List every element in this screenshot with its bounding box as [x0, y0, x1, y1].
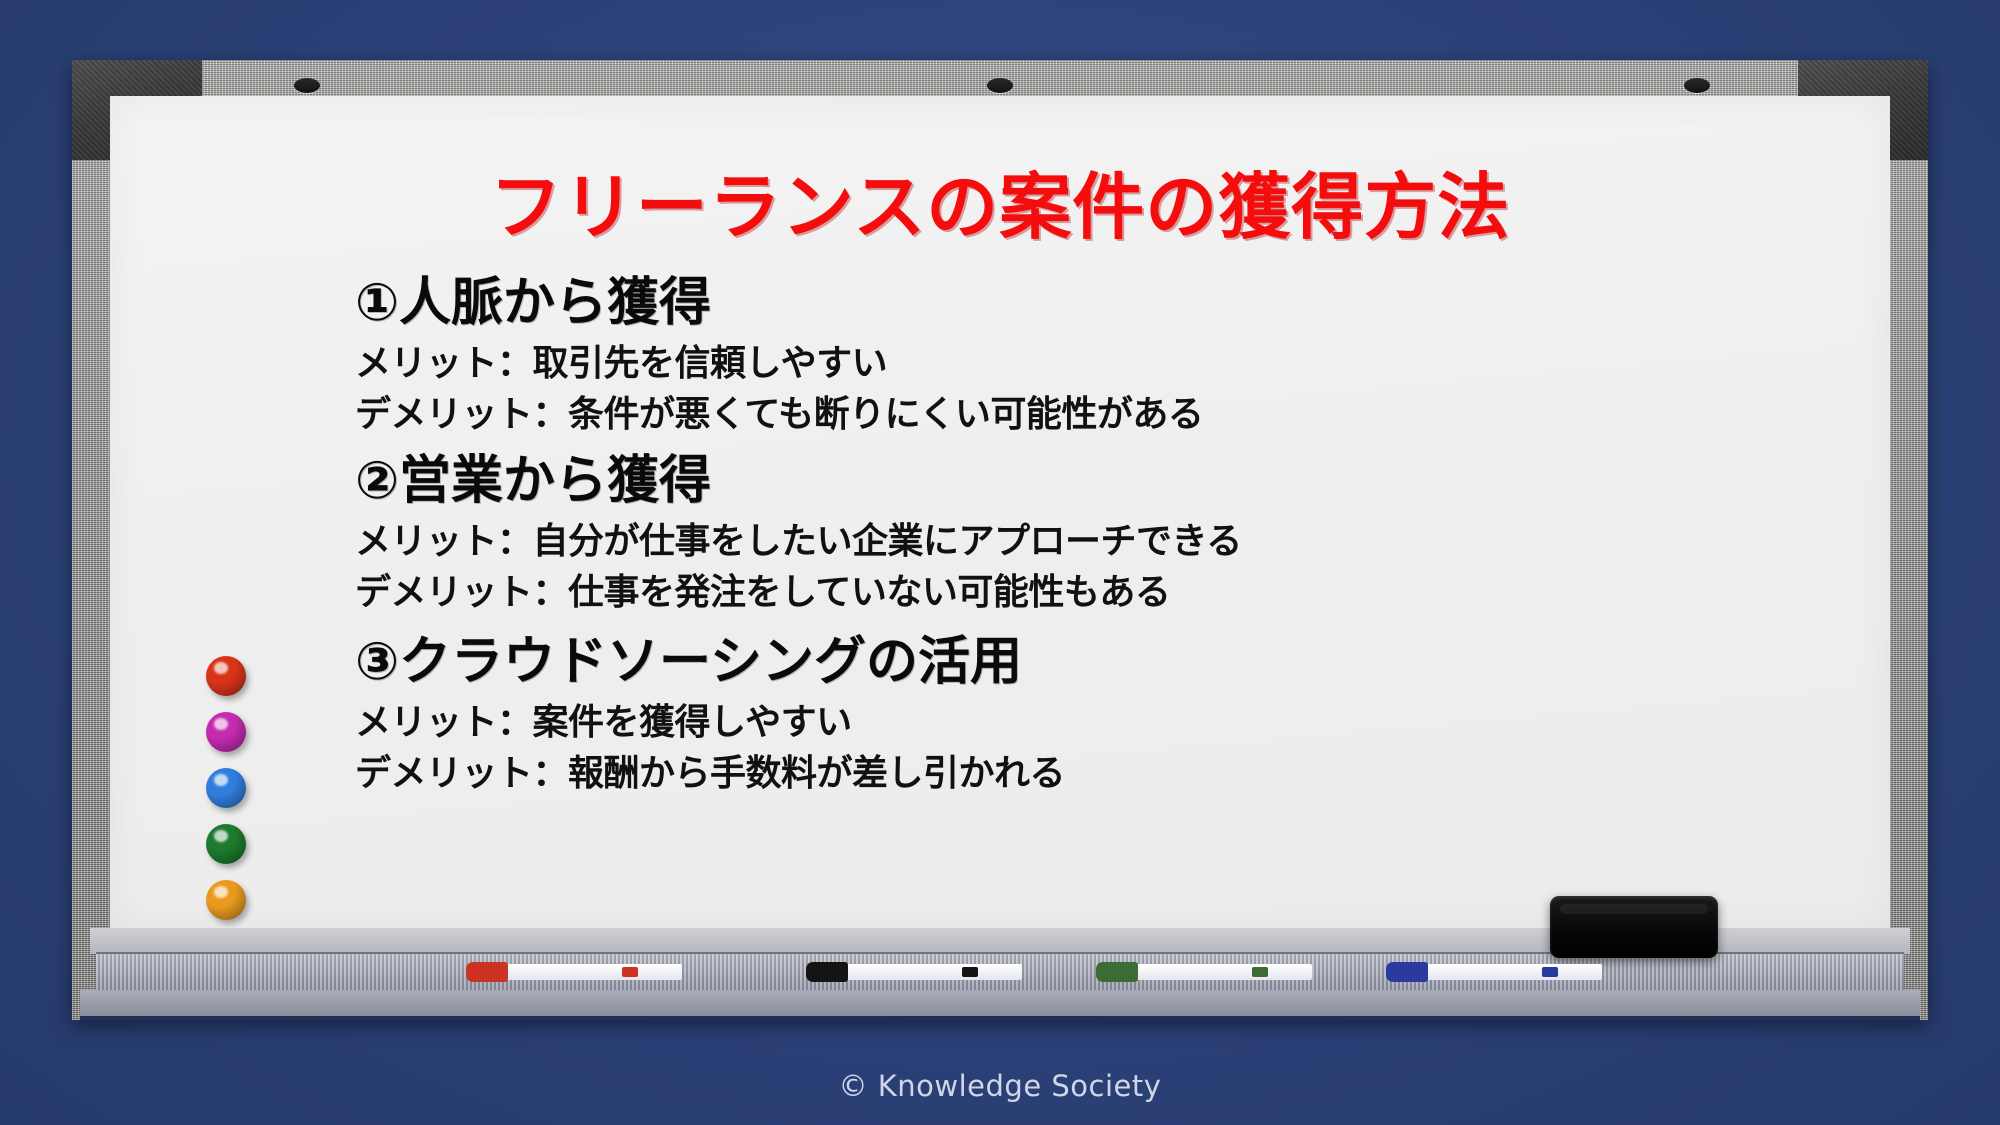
slide-content: フリーランスの案件の獲得方法 ①人脈から獲得 メリット：取引先を信頼しやすい デ… [110, 96, 1890, 930]
marker-green-cap [1096, 962, 1138, 982]
section-1: ①人脈から獲得 メリット：取引先を信頼しやすい デメリット：条件が悪くても断りに… [355, 274, 1830, 440]
marker-blue-tip [1542, 967, 1558, 977]
section-3-demerit: デメリット：報酬から手数料が差し引かれる [355, 748, 1830, 799]
section-2-heading: ②営業から獲得 [355, 452, 1830, 510]
tray-base [80, 990, 1920, 1020]
marker-black-tip [962, 967, 978, 977]
marker-black-cap [806, 962, 848, 982]
marker-blue-cap [1386, 962, 1428, 982]
section-3-heading: ③クラウドソーシングの活用 [355, 633, 1830, 691]
section-1-demerit: デメリット：条件が悪くても断りにくい可能性がある [355, 389, 1830, 440]
section-2-merit: メリット：自分が仕事をしたい企業にアプローチできる [355, 516, 1830, 567]
footer-copyright: © Knowledge Society [0, 1069, 2000, 1103]
marker-green-tip [1252, 967, 1268, 977]
marker-red-tip [622, 967, 638, 977]
whiteboard: フリーランスの案件の獲得方法 ①人脈から獲得 メリット：取引先を信頼しやすい デ… [72, 60, 1928, 1020]
marker-blue[interactable] [1392, 964, 1602, 980]
frame-screw-left [294, 78, 320, 93]
frame-screw-center [987, 78, 1013, 93]
pen-tray [72, 928, 1928, 1020]
magnet-strip [206, 656, 252, 936]
marker-black[interactable] [812, 964, 1022, 980]
whiteboard-eraser [1550, 896, 1718, 958]
magnet-orange[interactable] [206, 880, 246, 920]
section-1-heading: ①人脈から獲得 [355, 274, 1830, 332]
magnet-blue[interactable] [206, 768, 246, 808]
frame-screw-right [1684, 78, 1710, 93]
section-2-demerit: デメリット：仕事を発注をしていない可能性もある [355, 567, 1830, 618]
marker-red[interactable] [472, 964, 682, 980]
magnet-red[interactable] [206, 656, 246, 696]
marker-red-cap [466, 962, 508, 982]
section-1-merit: メリット：取引先を信頼しやすい [355, 338, 1830, 389]
marker-green[interactable] [1102, 964, 1312, 980]
section-3: ③クラウドソーシングの活用 メリット：案件を獲得しやすい デメリット：報酬から手… [355, 633, 1830, 799]
whiteboard-surface: フリーランスの案件の獲得方法 ①人脈から獲得 メリット：取引先を信頼しやすい デ… [110, 96, 1890, 930]
magnet-green[interactable] [206, 824, 246, 864]
section-3-merit: メリット：案件を獲得しやすい [355, 697, 1830, 748]
section-2: ②営業から獲得 メリット：自分が仕事をしたい企業にアプローチできる デメリット：… [355, 452, 1830, 618]
slide-canvas: フリーランスの案件の獲得方法 ①人脈から獲得 メリット：取引先を信頼しやすい デ… [0, 0, 2000, 1125]
slide-title: フリーランスの案件の獲得方法 [110, 148, 1890, 253]
magnet-magenta[interactable] [206, 712, 246, 752]
